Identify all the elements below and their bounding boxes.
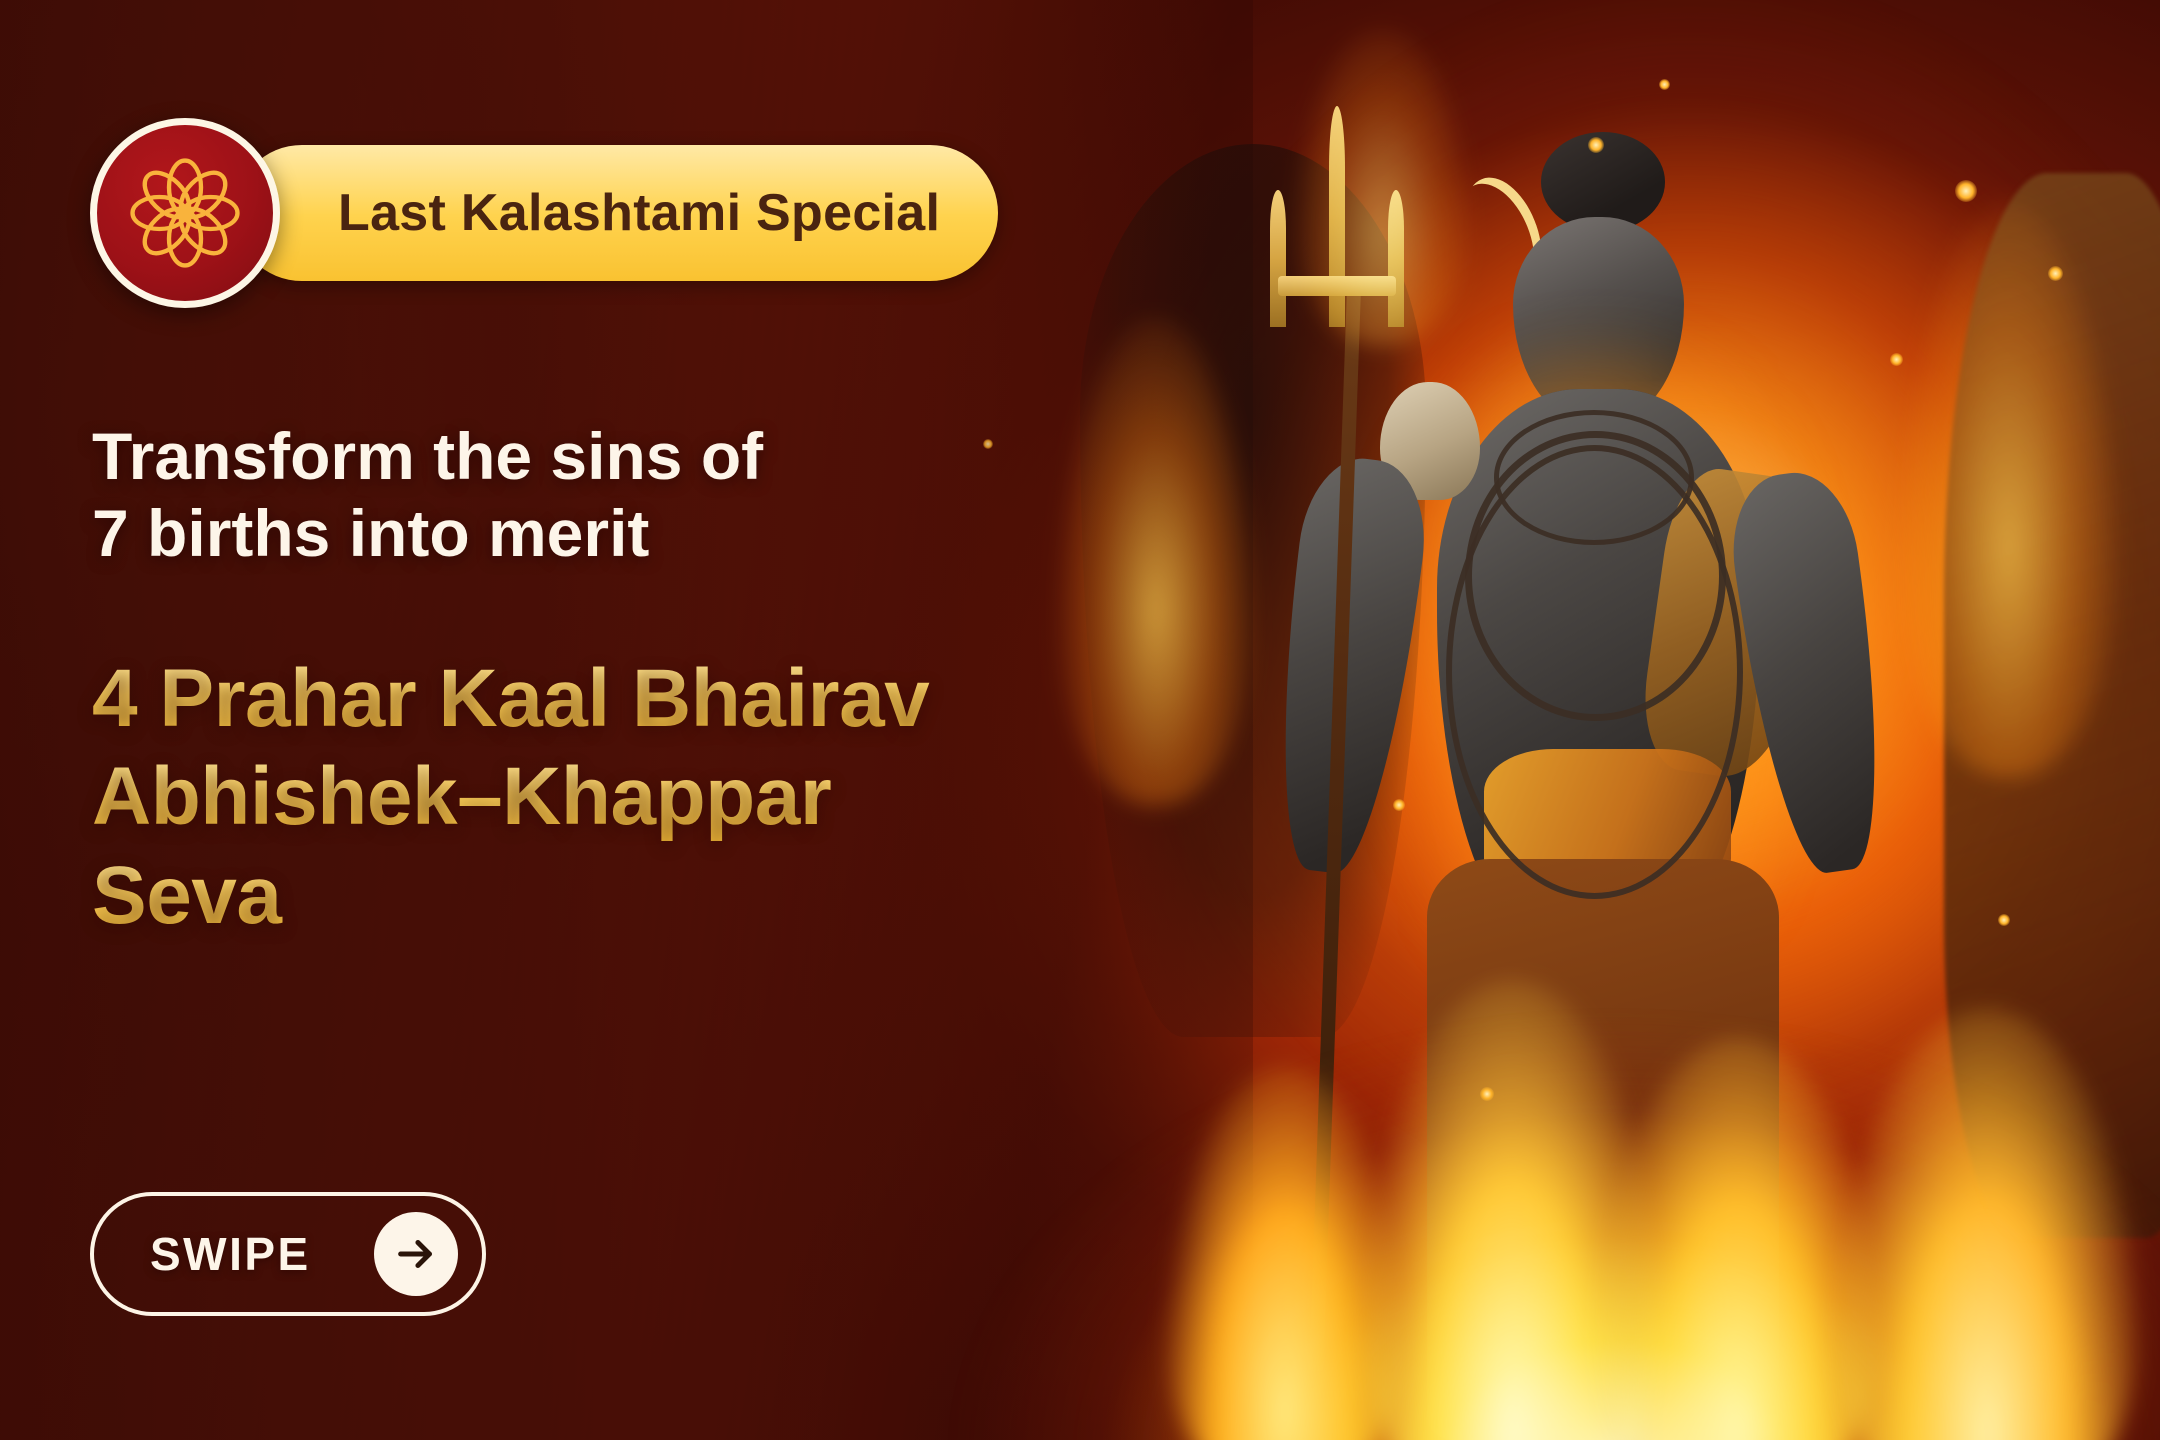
headline-line-2: 7 births into merit (92, 495, 1152, 572)
promo-banner: Last Kalashtami Special Transform the si… (0, 0, 2160, 1440)
lotus-rosette-icon (121, 149, 249, 277)
offer-title-line-1: 4 Prahar Kaal Bhairav (92, 650, 1172, 748)
offer-title-line-2: Abhishek–Khappar (92, 748, 1172, 846)
offer-title-block: 4 Prahar Kaal Bhairav Abhishek–Khappar S… (92, 650, 1172, 945)
swipe-button-label: SWIPE (150, 1227, 311, 1281)
headline-line-1: Transform the sins of (92, 418, 1152, 495)
promo-label-pill[interactable]: Last Kalashtami Special (234, 145, 998, 281)
brand-logo-badge[interactable] (90, 118, 280, 308)
arrow-right-icon[interactable] (374, 1212, 458, 1296)
banner-content: Last Kalashtami Special Transform the si… (0, 0, 2160, 1440)
offer-title-line-3: Seva (92, 847, 1172, 945)
headline-block: Transform the sins of 7 births into meri… (92, 418, 1152, 571)
swipe-button[interactable]: SWIPE (90, 1192, 486, 1316)
badge-row: Last Kalashtami Special (90, 118, 998, 308)
promo-label-text: Last Kalashtami Special (338, 183, 940, 243)
